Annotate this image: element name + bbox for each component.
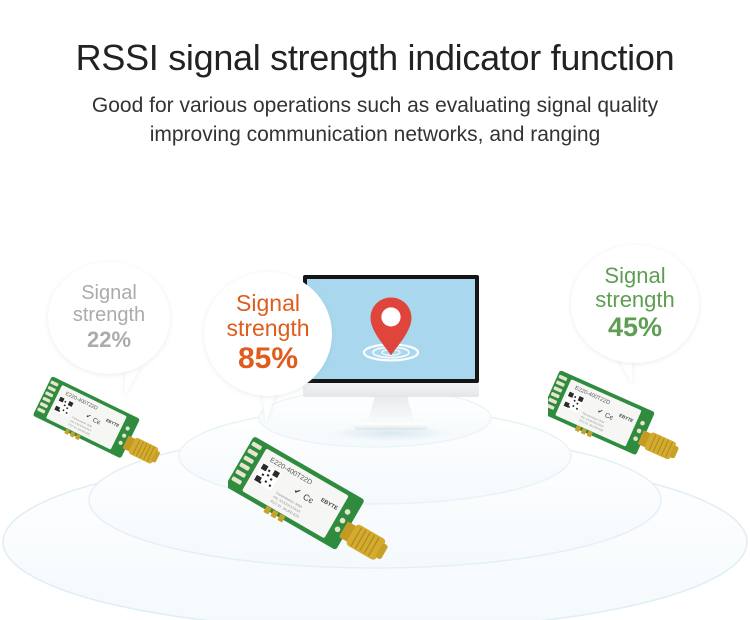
- bubble-body-center: Signal strength 85%: [204, 272, 332, 396]
- monitor-screen: [307, 279, 475, 379]
- subtitle-line-1: Good for various operations such as eval…: [92, 94, 658, 117]
- infographic-page: RSSI signal strength indicator function …: [0, 0, 750, 620]
- bubble-left-line-1: Signal: [81, 283, 137, 305]
- signal-bubble-left[interactable]: Signal strength 22%: [48, 262, 170, 374]
- bubble-right-line-1: Signal: [604, 264, 665, 288]
- header: RSSI signal strength indicator function …: [0, 0, 750, 150]
- rf-module-left: E220-400T22D ✔ Cє EBYTE: [30, 360, 180, 490]
- map-pin-icon: [356, 288, 426, 366]
- bubble-center-line-1: Signal: [236, 291, 300, 316]
- page-title: RSSI signal strength indicator function: [0, 0, 750, 78]
- bubble-center-line-2: strength: [226, 316, 309, 341]
- bubble-left-percent: 22%: [87, 327, 131, 353]
- page-subtitle: Good for various operations such as eval…: [30, 78, 720, 150]
- bubble-body-left: Signal strength 22%: [48, 262, 170, 374]
- bubble-center-percent: 85%: [238, 341, 298, 376]
- bubble-right-percent: 45%: [608, 312, 662, 344]
- signal-bubble-center[interactable]: Signal strength 85%: [204, 272, 332, 396]
- subtitle-line-2: improving communication networks, and ra…: [150, 123, 601, 146]
- bubble-right-line-2: strength: [595, 288, 675, 312]
- bubble-left-line-2: strength: [73, 305, 145, 327]
- signal-bubble-right[interactable]: Signal strength 45%: [571, 245, 699, 363]
- bubble-body-right: Signal strength 45%: [571, 245, 699, 363]
- rf-module-center: E220-400T22D ✔ Cє EBYTE: [228, 420, 428, 590]
